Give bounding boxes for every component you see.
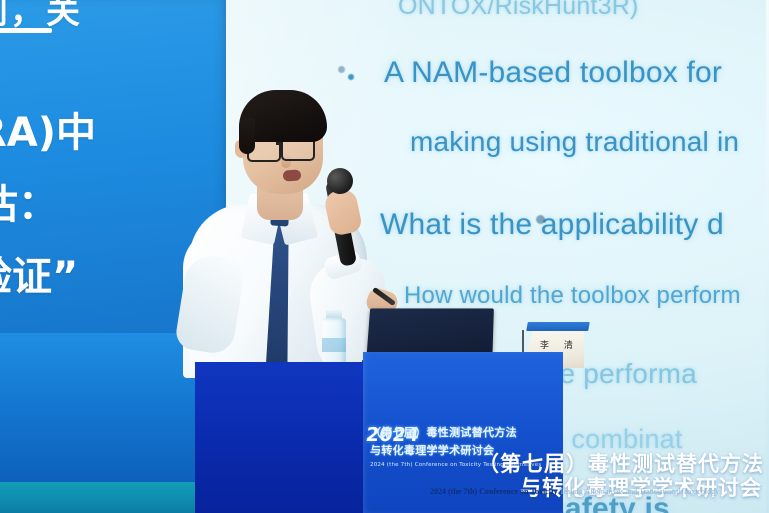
presenter-hair-side [239,118,255,154]
banner-line-ra: RA)中 [0,100,96,158]
caption-english-dim: Testing Alternatives and Translational T… [558,487,719,496]
blue-banner-teal-strip [0,482,226,513]
slide-line-ontox: ONTOX/RiskHunt3R) [398,0,639,21]
caption-english: 2024 (the 7th) Conference on Toxicity Te… [430,487,719,496]
podium-left-panel [195,362,365,513]
banner-line-yz: 验证” [0,244,78,302]
water-bottle-label [322,338,346,352]
slide-line-what: What is the applicability d [380,208,724,242]
name-card-header-strip [526,322,590,331]
slide-line-how: How would the toolbox perform [404,282,741,310]
presenter [175,78,390,368]
banner-divider-rule [0,28,52,33]
presenter-mouth [283,169,302,181]
name-card-label: 李 清 [540,338,579,351]
slide-line-making: making using traditional in [410,126,739,158]
slide-line-nam: A NAM-based toolbox for [384,56,722,90]
banner-line-gu: 估： [0,172,58,230]
screenshot-stage: ONTOX/RiskHunt3R) A NAM-based toolbox fo… [0,0,769,513]
caption-english-bold: 2024 (the 7th) Conference on Toxicity [430,487,558,496]
screen-artifact-dot [536,215,545,224]
glasses-bridge [276,142,283,145]
screen-artifact-dot-2 [338,66,345,73]
podium-logo-line1: （第七届）毒性测试替代方法 [370,424,562,440]
